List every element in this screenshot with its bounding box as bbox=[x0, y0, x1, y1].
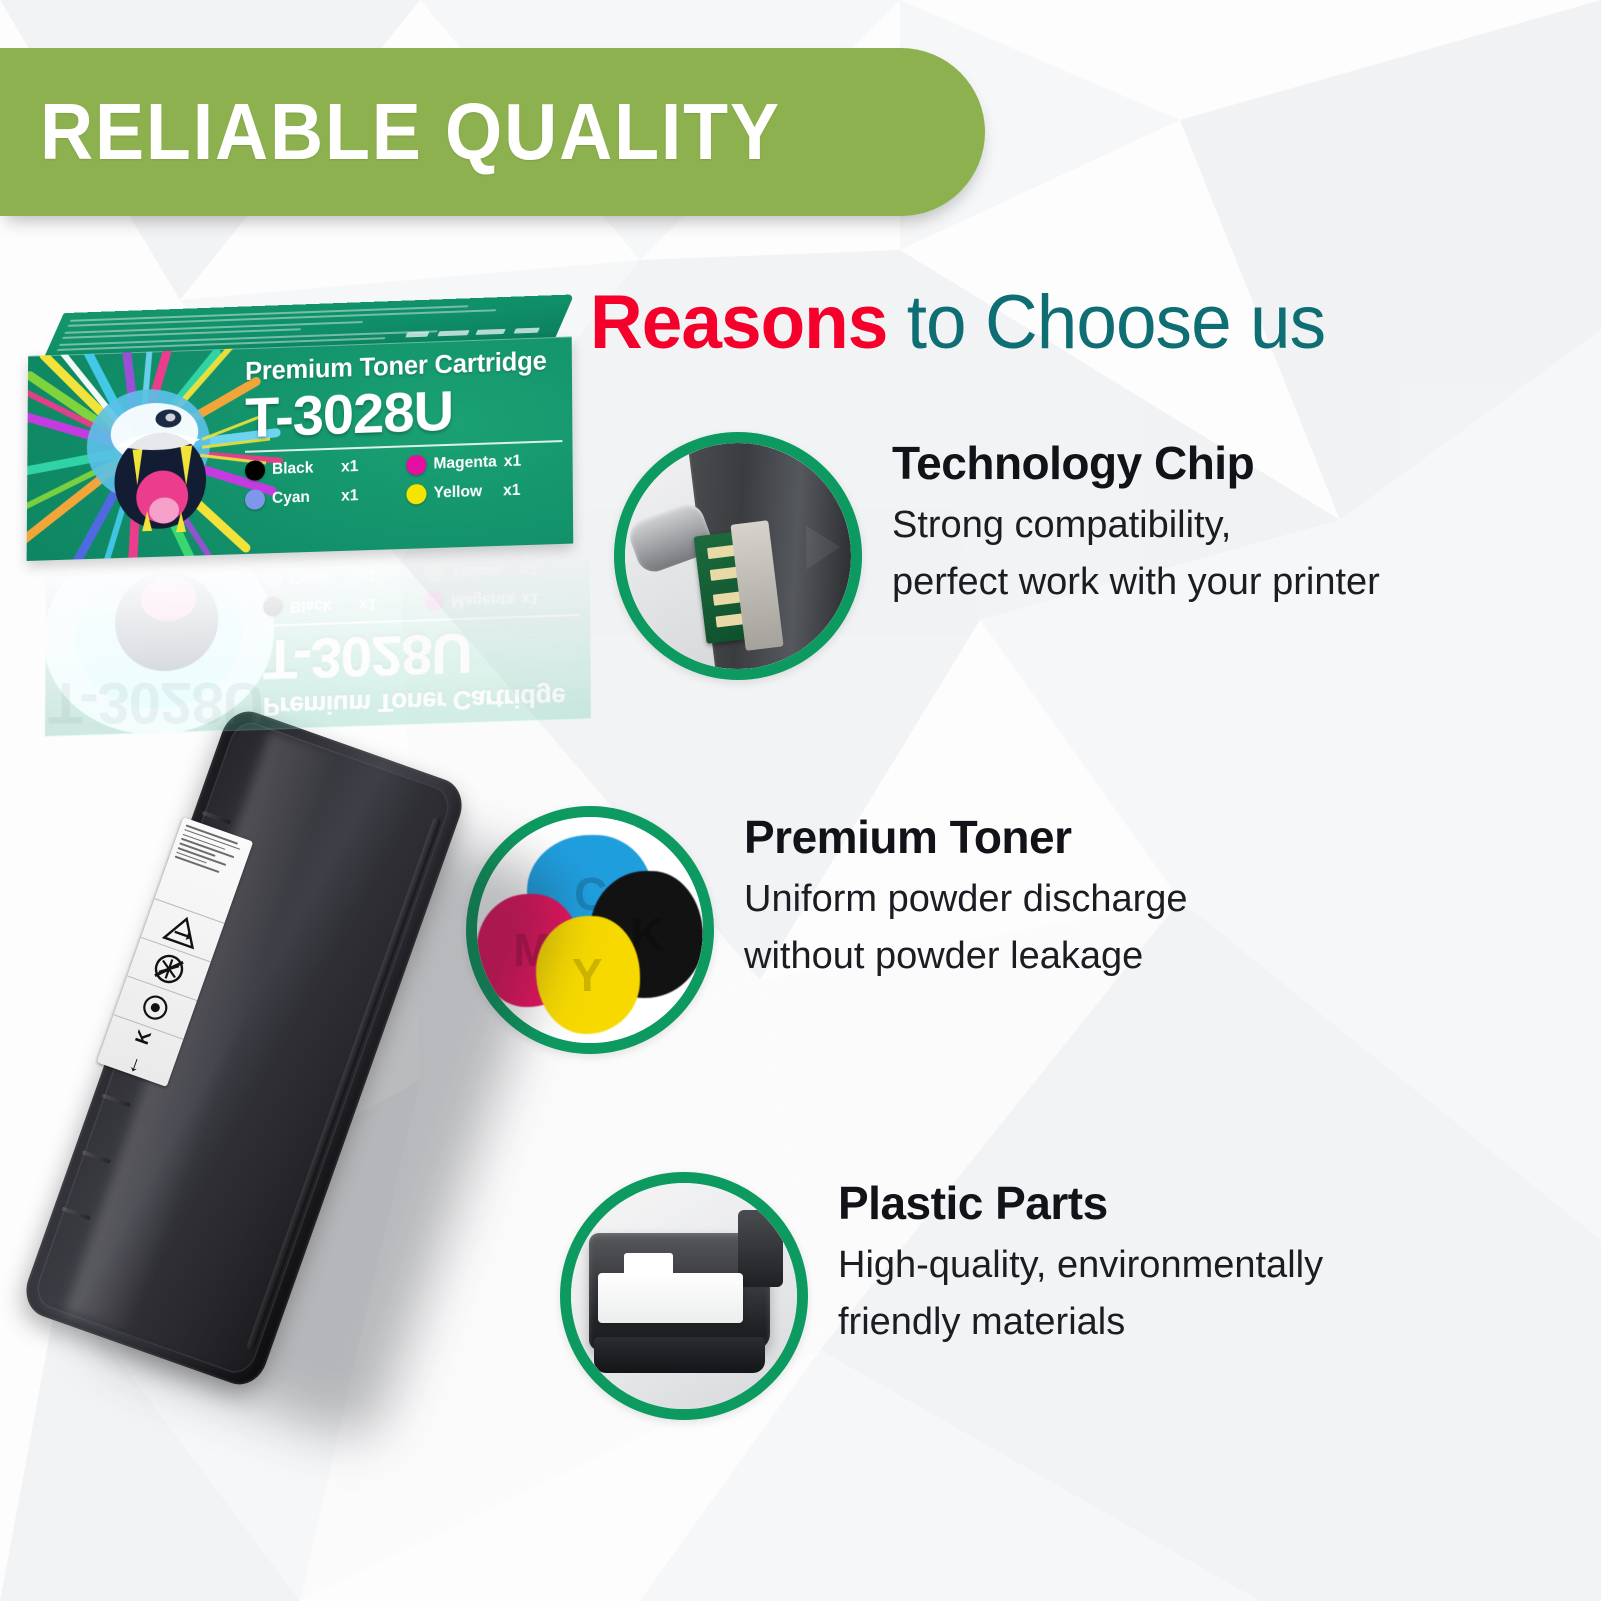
swatch-dot-cyan bbox=[263, 567, 283, 588]
swatch-name: Black bbox=[290, 595, 352, 615]
swatch-name: Magenta bbox=[433, 453, 496, 473]
feature-plastic-parts: Plastic Parts High-quality, environmenta… bbox=[560, 1172, 1323, 1420]
feature-1-desc-line2: perfect work with your printer bbox=[892, 554, 1380, 612]
swatch-qty: x1 bbox=[341, 458, 358, 477]
toner-box-3d: Premium Toner Cartridge T-3028U Blackx1M… bbox=[27, 297, 574, 563]
swatch-qty: x1 bbox=[504, 453, 522, 472]
feature-1-description: Strong compatibility, perfect work with … bbox=[892, 497, 1380, 613]
box-front-face: Premium Toner Cartridge T-3028U Blackx1M… bbox=[27, 336, 574, 561]
feature-2-description: Uniform powder discharge without powder … bbox=[744, 871, 1188, 987]
swatch-qty: x1 bbox=[359, 565, 376, 584]
feature-3-title: Plastic Parts bbox=[838, 1178, 1323, 1229]
box-color-swatch-list: Blackx1Magentax1Cyanx1Yellowx1 bbox=[245, 450, 563, 510]
plastic-parts-photo-icon bbox=[560, 1172, 808, 1420]
swatch-dot-magenta bbox=[424, 591, 444, 612]
reasons-column: Reasons to Choose us bbox=[590, 284, 1601, 362]
feature-1-desc-line1: Strong compatibility, bbox=[892, 497, 1380, 555]
box-swatch-yellow: Yellowx1 bbox=[406, 479, 562, 504]
toner-cartridge-photo: K ↓ bbox=[60, 700, 580, 1480]
feature-technology-chip: Technology Chip Strong compatibility, pe… bbox=[614, 432, 1380, 680]
box-swatch-cyan: Cyanx1 bbox=[245, 485, 400, 510]
box-model-number: T-3028U bbox=[245, 378, 562, 446]
swatch-name: Magenta bbox=[451, 589, 514, 609]
box-swatch-black: Blackx1 bbox=[263, 591, 418, 616]
reliable-quality-banner: RELIABLE QUALITY bbox=[0, 48, 985, 216]
feature-3-text: Plastic Parts High-quality, environmenta… bbox=[838, 1172, 1323, 1352]
box-swatch-magenta: Magentax1 bbox=[424, 586, 580, 611]
box-swatch-cyan: Cyanx1 bbox=[263, 562, 418, 587]
feature-2-desc-line2: without powder leakage bbox=[744, 928, 1188, 986]
box-swatch-magenta: Magentax1 bbox=[406, 450, 562, 475]
toner-box-photo: Premium Toner Cartridge T-3028U Blackx1M… bbox=[18, 286, 588, 686]
swatch-qty: x1 bbox=[359, 594, 376, 613]
swatch-dot-black bbox=[245, 460, 265, 481]
infographic-page: RELIABLE QUALITY Premium Toner Cartridge… bbox=[0, 0, 1601, 1601]
swatch-name: Cyan bbox=[290, 566, 352, 586]
swatch-name: Yellow bbox=[451, 560, 513, 580]
swatch-dot-magenta bbox=[406, 455, 426, 476]
banner-shape: RELIABLE QUALITY bbox=[0, 48, 985, 216]
headline-reasons: Reasons bbox=[590, 280, 887, 365]
technology-chip-photo-icon bbox=[614, 432, 862, 680]
swatch-dot-black bbox=[263, 596, 283, 617]
swatch-qty: x1 bbox=[503, 482, 521, 501]
label-down-arrow: ↓ bbox=[126, 1052, 144, 1076]
feature-1-title: Technology Chip bbox=[892, 438, 1380, 489]
feature-2-desc-line1: Uniform powder discharge bbox=[744, 871, 1188, 929]
swatch-dot-yellow bbox=[424, 562, 444, 583]
page-headline: Reasons to Choose us bbox=[590, 284, 1561, 362]
box-swatch-black: Blackx1 bbox=[245, 456, 400, 481]
feature-2-title: Premium Toner bbox=[744, 812, 1188, 863]
feature-2-text: Premium Toner Uniform powder discharge w… bbox=[744, 806, 1188, 986]
feature-3-desc-line1: High-quality, environmentally bbox=[838, 1237, 1323, 1295]
box-text-block: Premium Toner Cartridge T-3028U Blackx1M… bbox=[245, 347, 563, 510]
swatch-name: Yellow bbox=[434, 483, 497, 503]
swatch-qty: x1 bbox=[521, 588, 538, 607]
swatch-dot-cyan bbox=[245, 489, 265, 510]
swatch-name: Black bbox=[272, 459, 334, 479]
swatch-qty: x1 bbox=[520, 559, 537, 578]
box-swatch-yellow: Yellowx1 bbox=[424, 557, 580, 583]
feature-1-text: Technology Chip Strong compatibility, pe… bbox=[892, 432, 1380, 612]
feature-3-description: High-quality, environmentally friendly m… bbox=[838, 1237, 1323, 1353]
swatch-qty: x1 bbox=[341, 487, 358, 506]
swatch-name: Cyan bbox=[272, 488, 334, 508]
headline-to-choose-us: to Choose us bbox=[907, 280, 1325, 365]
box-model-ghost-reflection: T-3028U bbox=[48, 658, 568, 736]
feature-3-desc-line2: friendly materials bbox=[838, 1294, 1323, 1352]
swatch-dot-yellow bbox=[406, 484, 426, 505]
banner-title: RELIABLE QUALITY bbox=[40, 86, 781, 178]
label-k-marking: K bbox=[132, 1028, 157, 1048]
